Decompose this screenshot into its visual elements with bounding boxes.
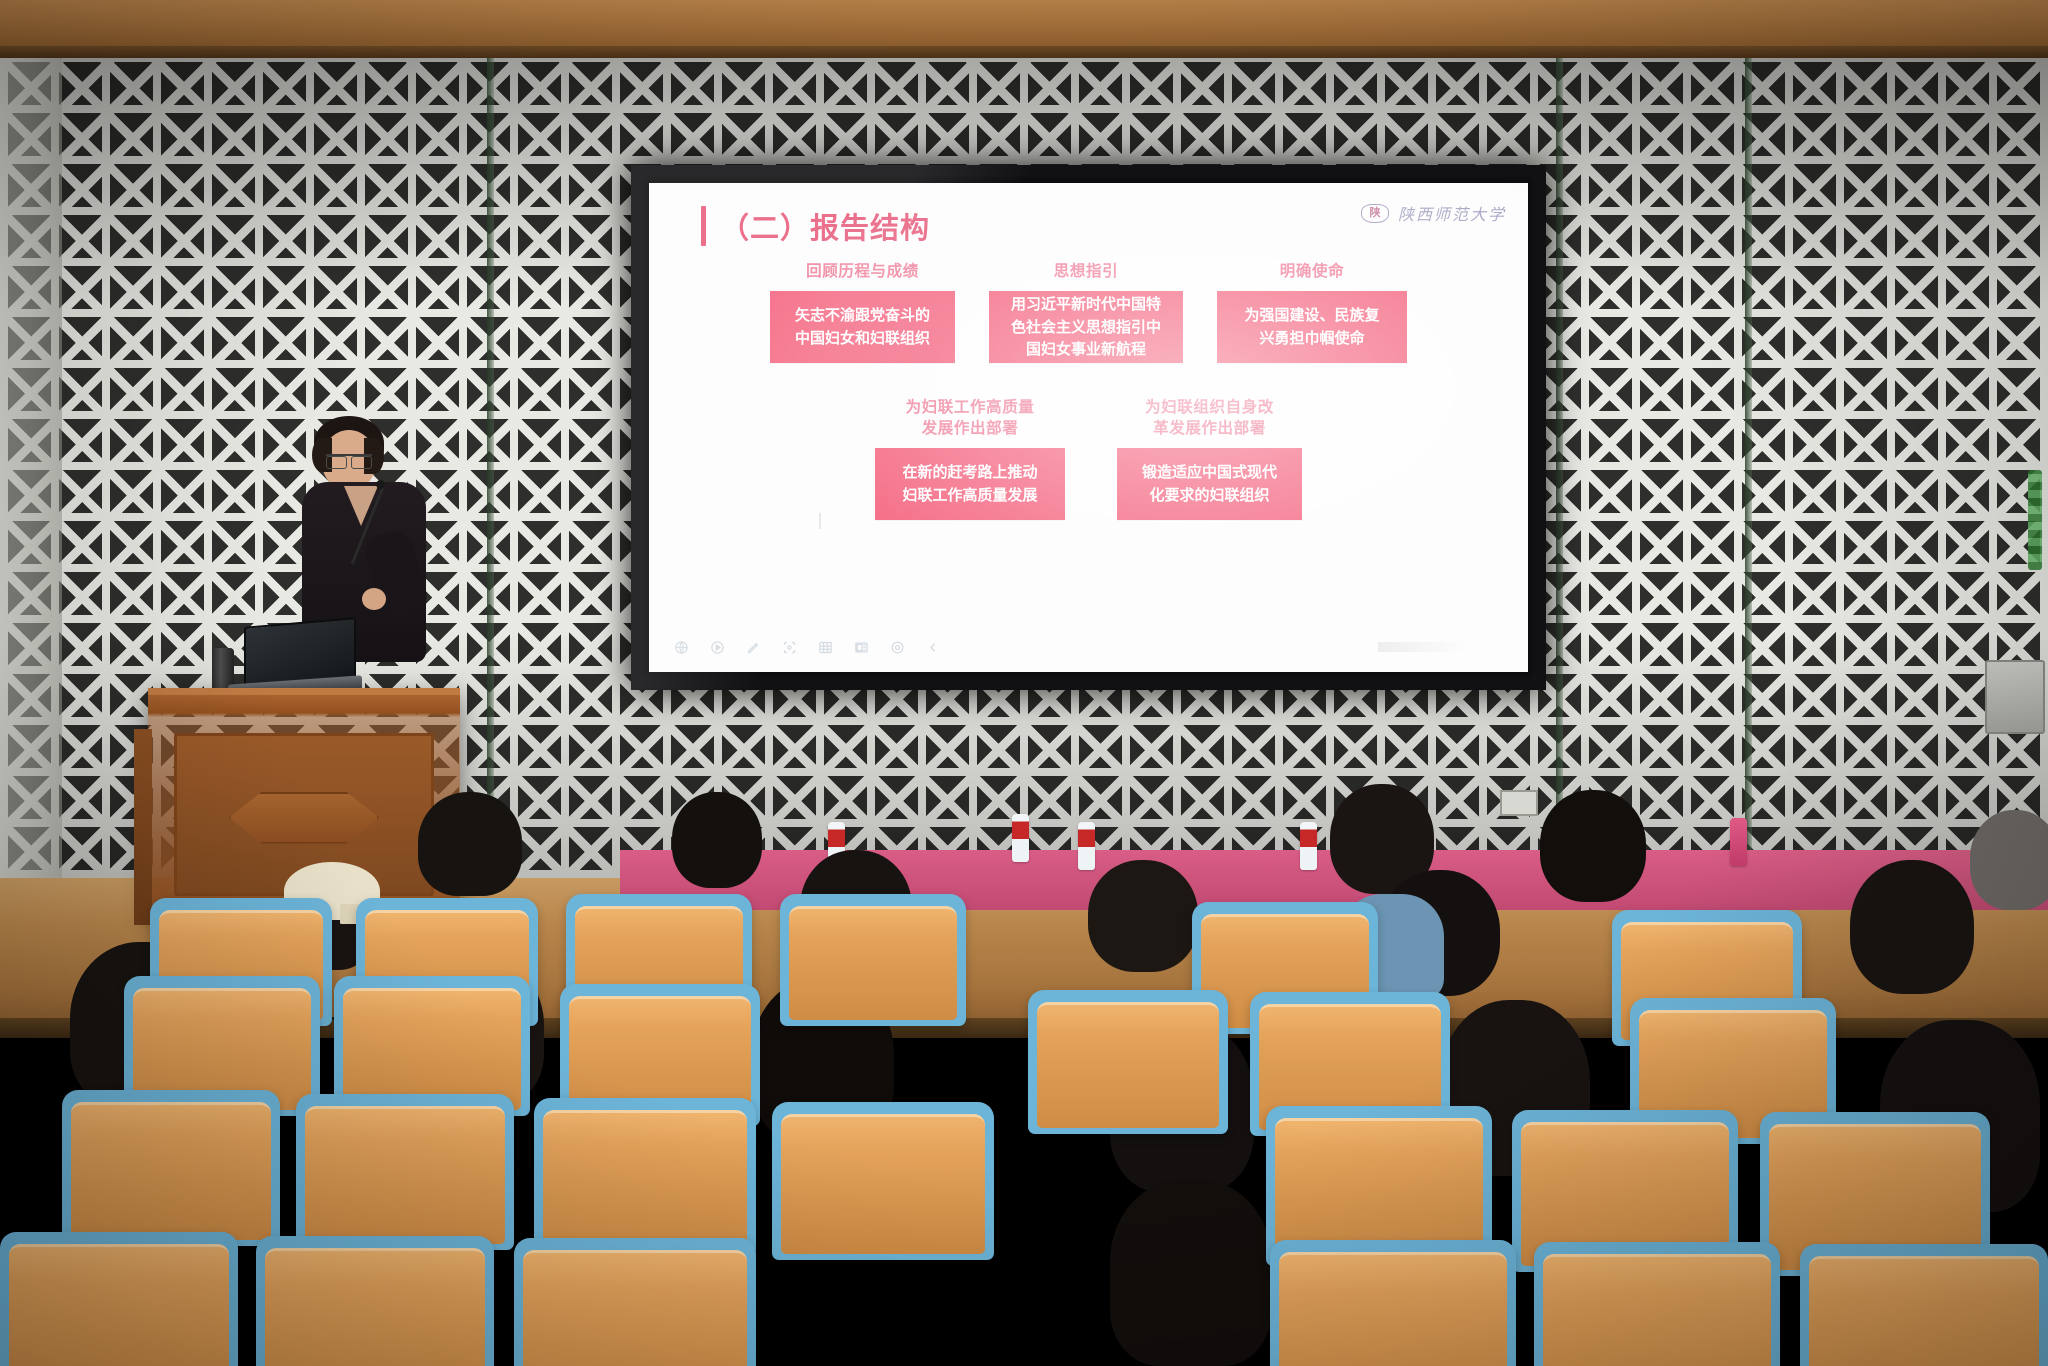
diagram-item-3: 明确使命 为强国建设、民族复 兴勇担巾帼使命: [1217, 261, 1407, 363]
title-accent-bar: [701, 206, 706, 246]
diagram-item-1: 回顾历程与成绩 矢志不渝跟党奋斗的 中国妇女和妇联组织: [770, 261, 955, 363]
podium-diamond-inlay: [229, 792, 379, 844]
wall-vertical-strip: [487, 58, 494, 878]
diagram-box: 在新的赶考路上推动 妇联工作高质量发展: [875, 448, 1065, 520]
audience-person: [1970, 810, 2048, 920]
audience-person: [1850, 860, 1980, 1000]
pen-icon[interactable]: [745, 639, 762, 656]
page-title: （二）报告结构: [720, 205, 930, 247]
auditorium-seat[interactable]: [62, 1090, 280, 1246]
diagram-caption: 回顾历程与成绩: [806, 261, 919, 282]
audience-area: [0, 880, 2048, 1366]
auditorium-seat[interactable]: [780, 894, 966, 1026]
diagram-item-4: 为妇联工作高质量 发展作出部署 在新的赶考路上推动 妇联工作高质量发展: [875, 397, 1065, 520]
wall-outlet-panel: [1500, 790, 1538, 816]
audience-person: [1110, 1180, 1280, 1366]
person-head: [1088, 860, 1198, 972]
wall-vertical-strip: [1556, 58, 1563, 878]
presenter-view-icon[interactable]: [853, 639, 870, 656]
person-head: [672, 792, 762, 888]
diagram-caption: 思想指引: [1054, 261, 1118, 282]
thermos-bottle: [1730, 818, 1747, 866]
auditorium-seat[interactable]: [1028, 990, 1228, 1134]
chevron-left-icon[interactable]: [925, 639, 942, 656]
diagram-box: 为强国建设、民族复 兴勇担巾帼使命: [1217, 291, 1407, 363]
presenter-glasses: [326, 454, 372, 464]
audience-person: [672, 792, 782, 902]
auditorium-seat[interactable]: [534, 1098, 756, 1256]
auditorium-seat[interactable]: [0, 1232, 238, 1366]
presenter-hand: [362, 588, 386, 610]
audience-person: [1540, 790, 1660, 908]
person-head: [1540, 790, 1646, 902]
auditorium-seat[interactable]: [1270, 1240, 1516, 1366]
diagram-caption: 明确使命: [1280, 261, 1344, 282]
water-bottle: [1012, 814, 1029, 862]
diagram-item-2: 思想指引 用习近平新时代中国特 色社会主义思想指引中 国妇女事业新航程: [989, 261, 1183, 363]
laser-pointer-icon[interactable]: [781, 639, 798, 656]
audience-person: [1088, 860, 1208, 980]
ceiling-wood-trim: [0, 0, 2048, 46]
auditorium-seat[interactable]: [514, 1238, 756, 1366]
auditorium-seat[interactable]: [296, 1094, 514, 1250]
person-head: [1110, 1180, 1272, 1366]
diagram-box: 矢志不渝跟党奋斗的 中国妇女和妇联组织: [770, 291, 955, 363]
diagram-caption: 为妇联组织自身改 革发展作出部署: [1145, 397, 1274, 439]
auditorium-seat[interactable]: [1800, 1244, 2048, 1366]
presentation-slide[interactable]: （二）报告结构 陕 陕西师范大学 回顾历程与成绩 矢志不渝跟党奋斗的 中国妇女和…: [649, 183, 1528, 672]
auditorium-seat[interactable]: [256, 1236, 494, 1366]
slide-watermark: [1378, 642, 1468, 652]
play-circle-icon[interactable]: [709, 639, 726, 656]
grid-view-icon[interactable]: [817, 639, 834, 656]
microphone-icon: [376, 480, 385, 489]
projection-screen[interactable]: （二）报告结构 陕 陕西师范大学 回顾历程与成绩 矢志不渝跟党奋斗的 中国妇女和…: [631, 165, 1546, 690]
diagram-box: 锻造适应中国式现代 化要求的妇联组织: [1117, 448, 1302, 520]
lecture-hall-photo: （二）报告结构 陕 陕西师范大学 回顾历程与成绩 矢志不渝跟党奋斗的 中国妇女和…: [0, 0, 2048, 1366]
wall-left-light-panel: [0, 58, 62, 878]
diagram-box: 用习近平新时代中国特 色社会主义思想指引中 国妇女事业新航程: [989, 291, 1183, 363]
wall-green-strip: [2028, 470, 2042, 570]
text-caret: [819, 513, 821, 529]
water-bottle: [1300, 822, 1317, 870]
logo-text: 陕西师范大学: [1398, 201, 1506, 225]
wall-speaker-box: [1985, 660, 2045, 734]
university-logo: 陕 陕西师范大学: [1361, 201, 1506, 225]
diagram-row-2: 为妇联工作高质量 发展作出部署 在新的赶考路上推动 妇联工作高质量发展 为妇联组…: [649, 397, 1528, 520]
person-head: [418, 792, 522, 896]
slide-diagram: 回顾历程与成绩 矢志不渝跟党奋斗的 中国妇女和妇联组织 思想指引 用习近平新时代…: [649, 261, 1528, 520]
slide-title-block: （二）报告结构: [701, 205, 930, 247]
auditorium-seat[interactable]: [1534, 1242, 1780, 1366]
logo-seal-icon: 陕: [1361, 204, 1389, 223]
auditorium-seat[interactable]: [772, 1102, 994, 1260]
person-head: [1850, 860, 1974, 994]
ceiling-shadow-band: [0, 46, 2048, 58]
wall-vertical-strip: [1745, 58, 1752, 878]
settings-icon[interactable]: [889, 639, 906, 656]
diagram-item-5: 为妇联组织自身改 革发展作出部署 锻造适应中国式现代 化要求的妇联组织: [1117, 397, 1302, 520]
presentation-toolbar[interactable]: [673, 639, 942, 656]
audience-person: [418, 792, 538, 902]
diagram-caption: 为妇联工作高质量 发展作出部署: [906, 397, 1035, 439]
globe-icon[interactable]: [673, 639, 690, 656]
diagram-row-1: 回顾历程与成绩 矢志不渝跟党奋斗的 中国妇女和妇联组织 思想指引 用习近平新时代…: [649, 261, 1528, 363]
person-head: [1970, 810, 2048, 910]
